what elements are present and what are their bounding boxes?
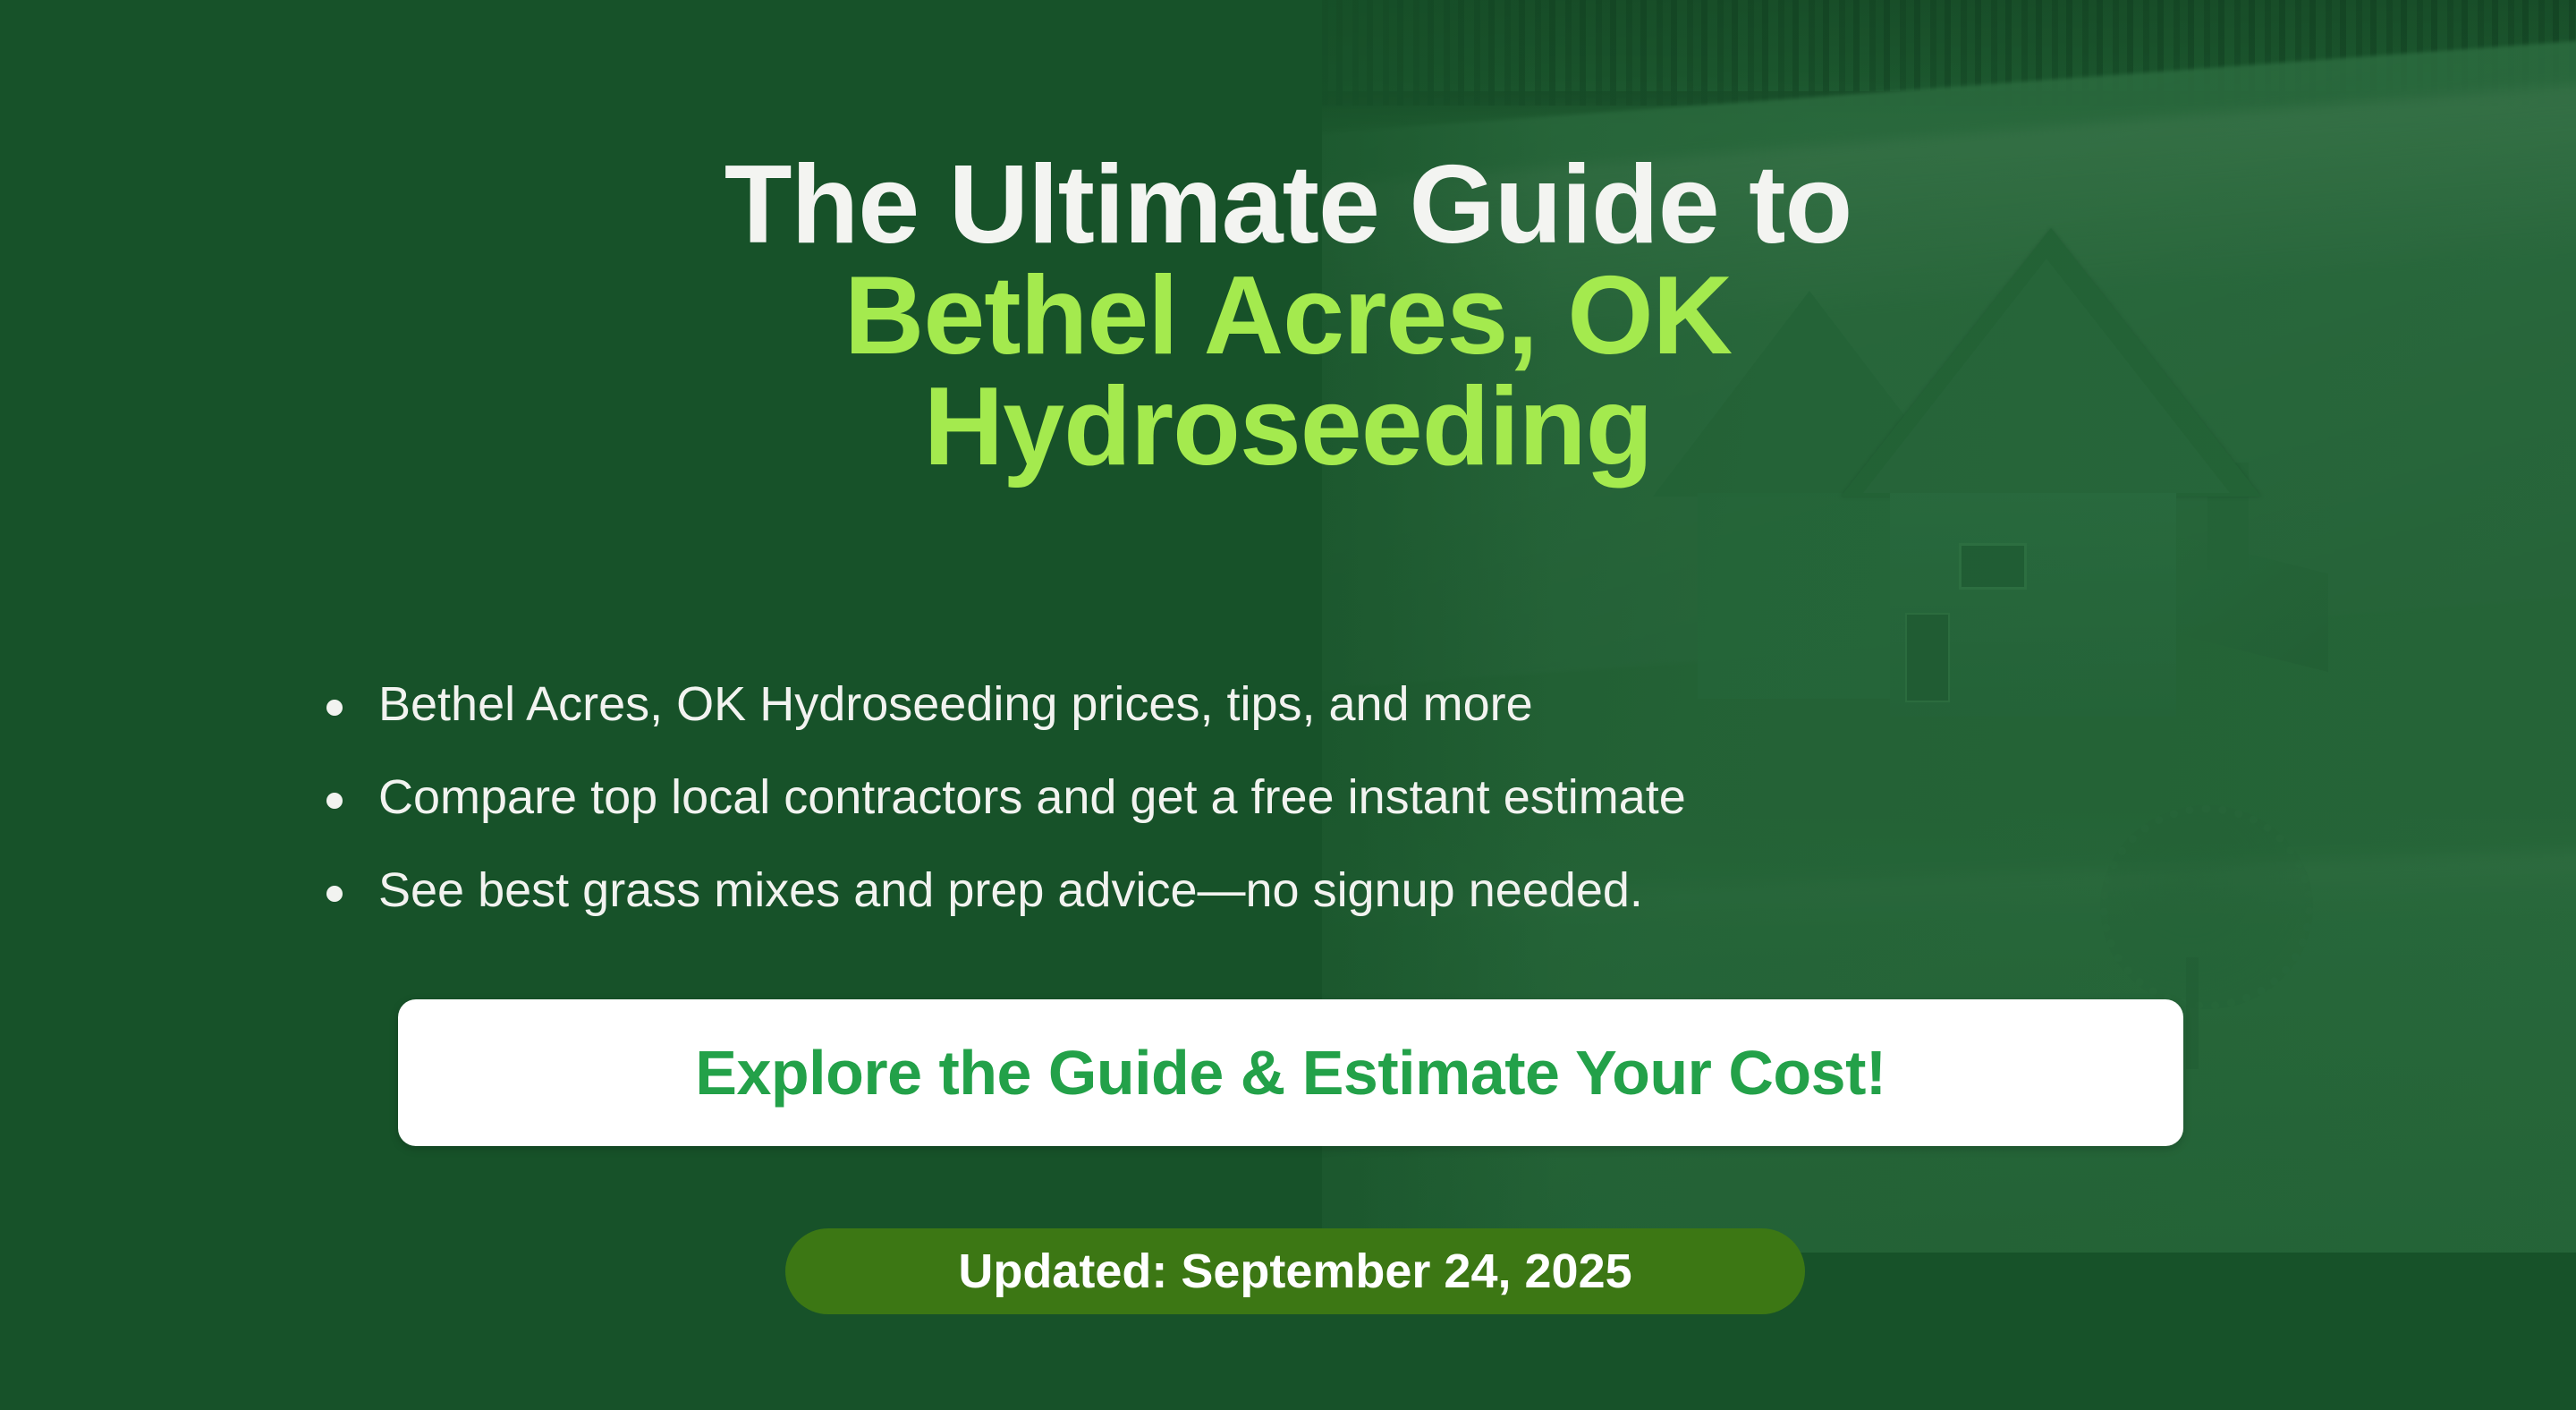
benefits-list: Bethel Acres, OK Hydroseeding prices, ti…: [315, 680, 1686, 914]
hero-banner: The Ultimate Guide to Bethel Acres, OK H…: [0, 0, 2576, 1410]
updated-date-label: Updated: September 24, 2025: [958, 1244, 1631, 1299]
updated-date-badge: Updated: September 24, 2025: [785, 1228, 1805, 1314]
page-title: The Ultimate Guide to Bethel Acres, OK H…: [0, 149, 2576, 482]
headline-line-1: The Ultimate Guide to: [724, 143, 1851, 267]
explore-guide-button[interactable]: Explore the Guide & Estimate Your Cost!: [398, 999, 2183, 1146]
banner-content: The Ultimate Guide to Bethel Acres, OK H…: [0, 0, 2576, 1410]
list-item: See best grass mixes and prep advice—no …: [315, 866, 1686, 914]
list-item: Bethel Acres, OK Hydroseeding prices, ti…: [315, 680, 1686, 728]
headline-line-3: Hydroseeding: [107, 371, 2469, 482]
headline-line-2: Bethel Acres, OK: [107, 260, 2469, 371]
explore-guide-button-label: Explore the Guide & Estimate Your Cost!: [695, 1037, 1886, 1108]
list-item: Compare top local contractors and get a …: [315, 773, 1686, 821]
